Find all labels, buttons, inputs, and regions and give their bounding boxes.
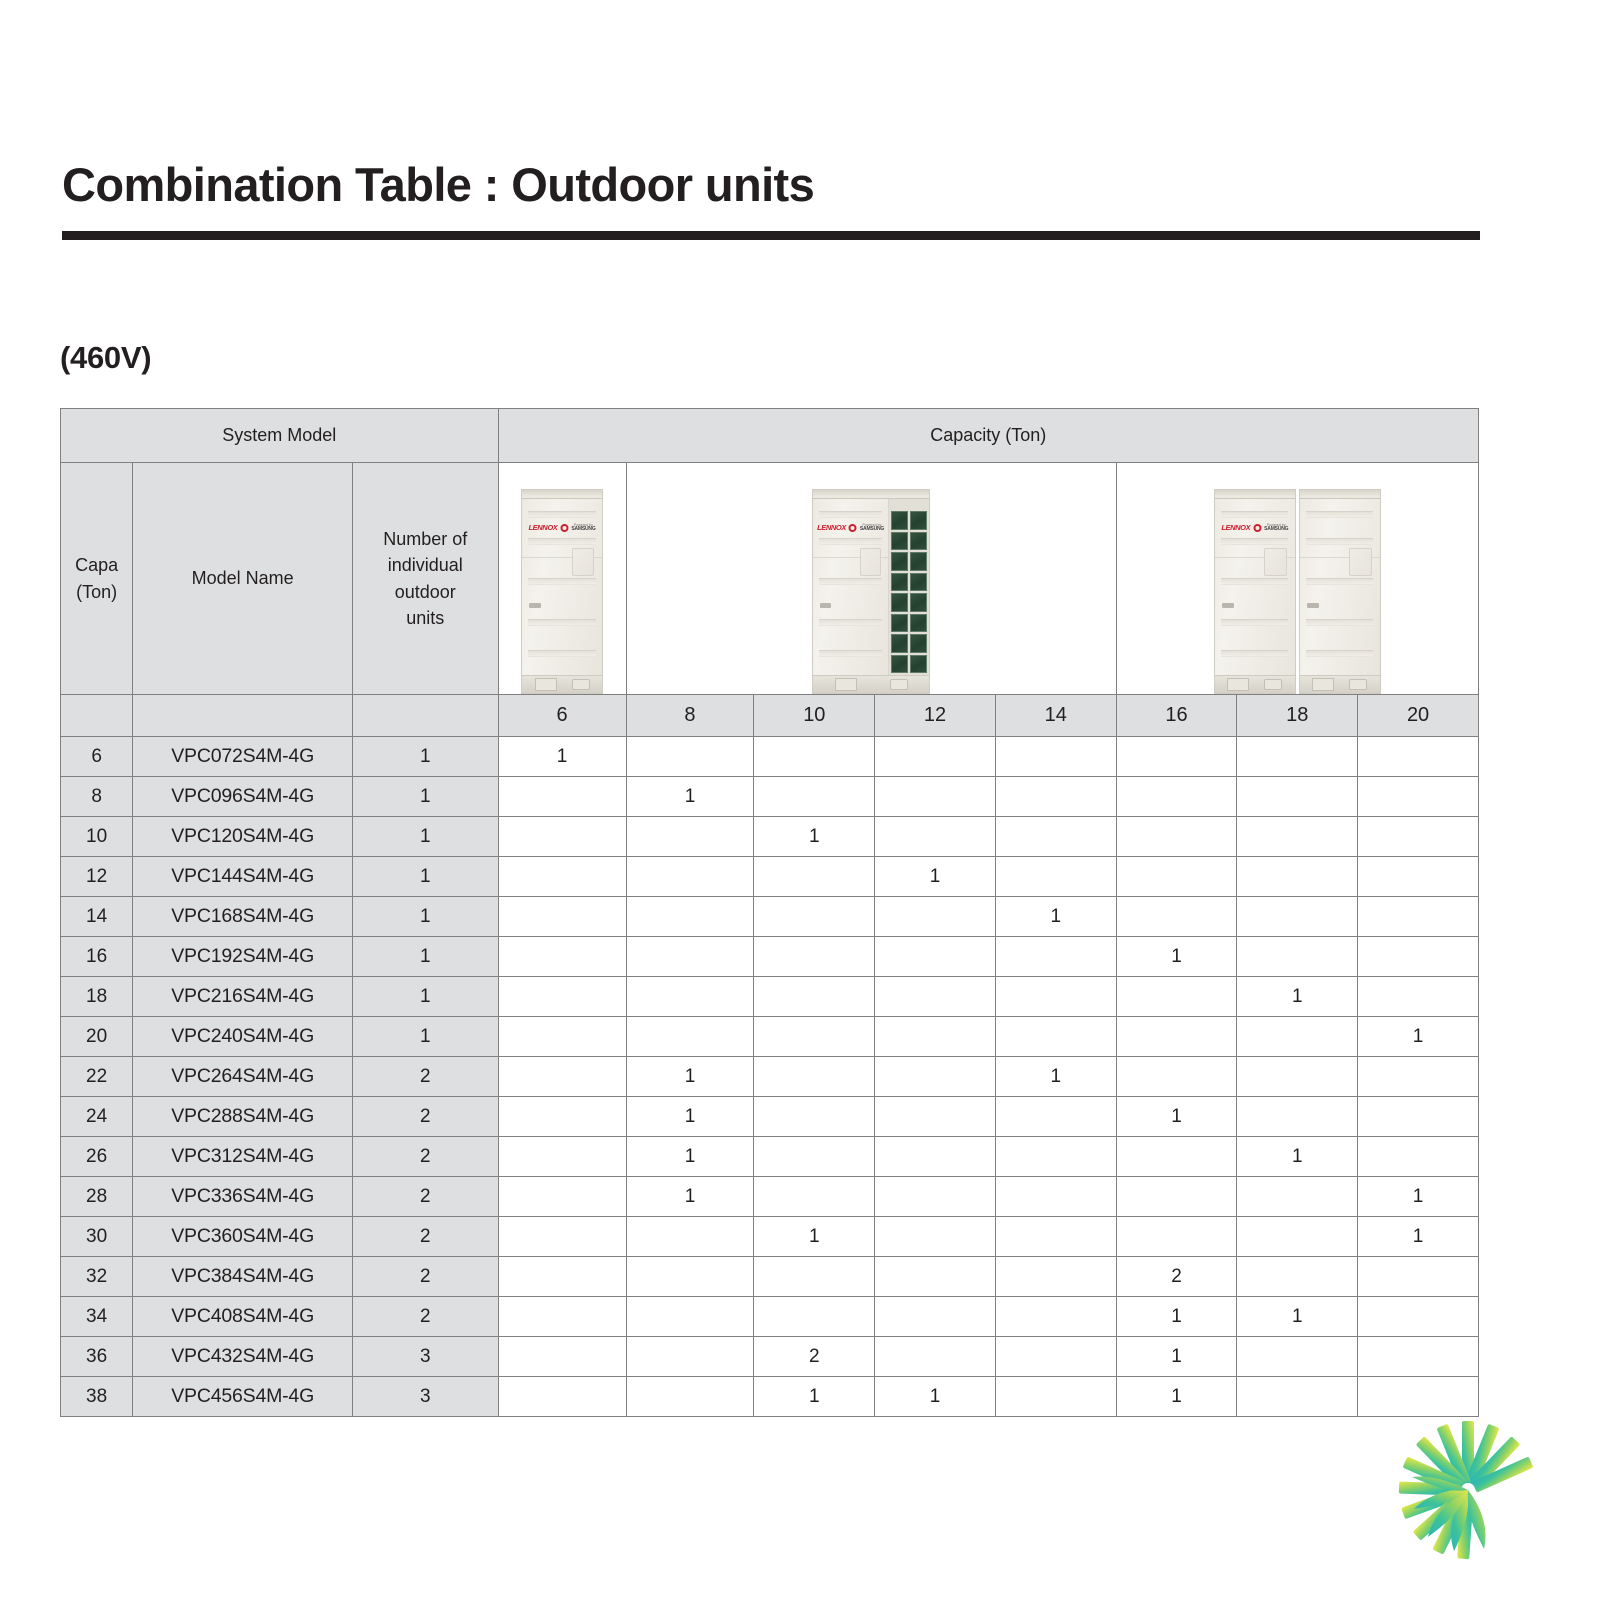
- matrix-cell-20: 1: [1358, 1217, 1479, 1257]
- lennox-circle-icon: [1253, 524, 1261, 532]
- row-capa-ton: 12: [61, 857, 133, 897]
- row-number-of-units: 1: [353, 897, 499, 937]
- unit-illustration-group: LENNOX Powered by SAMSUNG: [627, 463, 1116, 694]
- matrix-cell-10: [754, 1057, 875, 1097]
- row-number-of-units: 2: [353, 1257, 499, 1297]
- unit-body: [1300, 499, 1380, 675]
- row-model-name: VPC384S4M-4G: [133, 1257, 353, 1297]
- powered-by-samsung-mark: Powered by SAMSUNG: [571, 524, 595, 532]
- row-number-of-units: 1: [353, 817, 499, 857]
- header-capa-line2: (Ton): [61, 579, 132, 605]
- matrix-cell-16: 1: [1116, 1297, 1237, 1337]
- matrix-cell-20: [1358, 1297, 1479, 1337]
- matrix-cell-10: 1: [754, 817, 875, 857]
- matrix-cell-20: [1358, 937, 1479, 977]
- table-row: 18VPC216S4M-4G11: [61, 977, 1479, 1017]
- matrix-cell-20: 1: [1358, 1017, 1479, 1057]
- matrix-cell-16: [1116, 897, 1237, 937]
- lennox-circle-icon: [560, 524, 568, 532]
- header-units-line2: individual: [353, 552, 498, 578]
- samsung-label: SAMSUNG: [1264, 527, 1288, 532]
- row-capa-ton: 24: [61, 1097, 133, 1137]
- row-model-name: VPC072S4M-4G: [133, 737, 353, 777]
- row-number-of-units: 3: [353, 1377, 499, 1417]
- table-row: 14VPC168S4M-4G11: [61, 897, 1479, 937]
- row-model-name: VPC432S4M-4G: [133, 1337, 353, 1377]
- matrix-cell-10: [754, 1257, 875, 1297]
- spacer-capa: [61, 695, 133, 737]
- matrix-cell-10: [754, 897, 875, 937]
- matrix-cell-20: [1358, 817, 1479, 857]
- spacer-count: [353, 695, 499, 737]
- row-number-of-units: 2: [353, 1137, 499, 1177]
- matrix-cell-18: 1: [1237, 977, 1358, 1017]
- matrix-cell-12: [875, 737, 996, 777]
- outdoor-unit-graphic: LENNOX Powered by SAMSUNG: [521, 489, 603, 694]
- table-row: 16VPC192S4M-4G11: [61, 937, 1479, 977]
- title-block: Combination Table : Outdoor units: [62, 160, 1480, 240]
- matrix-cell-6: [498, 1297, 626, 1337]
- dual-outdoor-units-image: LENNOX Powered by SAMSUNG: [1116, 463, 1478, 695]
- row-number-of-units: 1: [353, 937, 499, 977]
- matrix-cell-8: [626, 1017, 754, 1057]
- capacity-col-10: 10: [754, 695, 875, 737]
- capacity-col-16: 16: [1116, 695, 1237, 737]
- lennox-wordmark: LENNOX: [1221, 524, 1250, 532]
- matrix-cell-20: [1358, 1097, 1479, 1137]
- outdoor-unit-graphic-second: [1299, 489, 1381, 694]
- header-units-line4: units: [353, 605, 498, 631]
- lennox-logo-icon: LENNOX Powered by SAMSUNG: [529, 524, 596, 532]
- matrix-cell-12: 1: [875, 857, 996, 897]
- matrix-cell-18: [1237, 817, 1358, 857]
- unit-foot-right: [890, 679, 908, 690]
- matrix-cell-18: [1237, 857, 1358, 897]
- header-units-line3: outdoor: [353, 579, 498, 605]
- matrix-cell-20: [1358, 857, 1479, 897]
- matrix-cell-10: 1: [754, 1377, 875, 1417]
- page-title: Combination Table : Outdoor units: [62, 160, 1480, 209]
- matrix-cell-20: [1358, 1137, 1479, 1177]
- matrix-cell-6: [498, 1257, 626, 1297]
- matrix-cell-10: [754, 1097, 875, 1137]
- unit-front-panel: [1300, 499, 1380, 675]
- matrix-cell-12: [875, 817, 996, 857]
- capacity-col-18: 18: [1237, 695, 1358, 737]
- matrix-cell-14: [995, 857, 1116, 897]
- matrix-cell-6: [498, 857, 626, 897]
- matrix-cell-12: [875, 977, 996, 1017]
- matrix-cell-16: [1116, 1217, 1237, 1257]
- matrix-cell-8: [626, 1337, 754, 1377]
- unit-top-cap: [522, 490, 602, 499]
- matrix-cell-14: [995, 1177, 1116, 1217]
- matrix-cell-18: 1: [1237, 1137, 1358, 1177]
- matrix-cell-20: [1358, 1337, 1479, 1377]
- row-model-name: VPC120S4M-4G: [133, 817, 353, 857]
- matrix-cell-10: [754, 857, 875, 897]
- matrix-cell-8: [626, 817, 754, 857]
- row-capa-ton: 38: [61, 1377, 133, 1417]
- row-capa-ton: 22: [61, 1057, 133, 1097]
- row-model-name: VPC408S4M-4G: [133, 1297, 353, 1337]
- row-number-of-units: 2: [353, 1177, 499, 1217]
- row-number-of-units: 2: [353, 1097, 499, 1137]
- unit-base: [522, 675, 602, 693]
- matrix-cell-16: [1116, 1137, 1237, 1177]
- matrix-cell-6: [498, 1217, 626, 1257]
- row-number-of-units: 2: [353, 1297, 499, 1337]
- matrix-cell-20: [1358, 1377, 1479, 1417]
- matrix-cell-16: [1116, 777, 1237, 817]
- row-number-of-units: 1: [353, 977, 499, 1017]
- unit-illustration-group: LENNOX Powered by SAMSUNG: [1117, 463, 1478, 694]
- matrix-cell-10: [754, 737, 875, 777]
- matrix-cell-18: [1237, 737, 1358, 777]
- row-number-of-units: 1: [353, 777, 499, 817]
- table-row: 20VPC240S4M-4G11: [61, 1017, 1479, 1057]
- table-body: 6VPC072S4M-4G118VPC096S4M-4G1110VPC120S4…: [61, 737, 1479, 1417]
- lennox-circle-icon: [849, 524, 857, 532]
- capacity-col-6: 6: [498, 695, 626, 737]
- matrix-cell-14: 1: [995, 1057, 1116, 1097]
- unit-base: [813, 675, 929, 693]
- unit-foot-right: [1349, 679, 1367, 690]
- matrix-cell-12: [875, 1017, 996, 1057]
- matrix-cell-12: [875, 1177, 996, 1217]
- matrix-cell-10: [754, 777, 875, 817]
- matrix-cell-14: [995, 1377, 1116, 1417]
- unit-foot-left: [1227, 678, 1249, 691]
- matrix-cell-14: 1: [995, 897, 1116, 937]
- table-group-header-row: System Model Capacity (Ton): [61, 409, 1479, 463]
- single-outdoor-unit-6ton-image: LENNOX Powered by SAMSUNG: [498, 463, 626, 695]
- row-model-name: VPC312S4M-4G: [133, 1137, 353, 1177]
- samsung-label: SAMSUNG: [571, 527, 595, 532]
- row-number-of-units: 1: [353, 1017, 499, 1057]
- table-row: 38VPC456S4M-4G3111: [61, 1377, 1479, 1417]
- matrix-cell-14: [995, 1137, 1116, 1177]
- unit-front-panel: LENNOX Powered by SAMSUNG: [522, 499, 602, 675]
- matrix-cell-18: [1237, 777, 1358, 817]
- matrix-cell-8: 1: [626, 777, 754, 817]
- table-row: 6VPC072S4M-4G11: [61, 737, 1479, 777]
- matrix-cell-6: [498, 1177, 626, 1217]
- matrix-cell-12: [875, 1257, 996, 1297]
- matrix-cell-18: [1237, 1177, 1358, 1217]
- table-row: 34VPC408S4M-4G211: [61, 1297, 1479, 1337]
- matrix-cell-10: [754, 1177, 875, 1217]
- table-row: 10VPC120S4M-4G11: [61, 817, 1479, 857]
- matrix-cell-12: [875, 1137, 996, 1177]
- matrix-cell-6: [498, 1337, 626, 1377]
- unit-top-cap: [1215, 490, 1295, 499]
- matrix-cell-18: [1237, 897, 1358, 937]
- matrix-cell-16: [1116, 1177, 1237, 1217]
- matrix-cell-18: [1237, 937, 1358, 977]
- matrix-cell-12: [875, 1217, 996, 1257]
- matrix-cell-8: [626, 937, 754, 977]
- unit-front-panel: LENNOX Powered by SAMSUNG: [1215, 499, 1295, 675]
- table-row: 32VPC384S4M-4G22: [61, 1257, 1479, 1297]
- row-model-name: VPC240S4M-4G: [133, 1017, 353, 1057]
- matrix-cell-18: [1237, 1057, 1358, 1097]
- matrix-cell-18: 1: [1237, 1297, 1358, 1337]
- matrix-cell-18: [1237, 1337, 1358, 1377]
- matrix-cell-8: [626, 857, 754, 897]
- header-capa-line1: Capa: [61, 552, 132, 578]
- capacity-col-8: 8: [626, 695, 754, 737]
- matrix-cell-8: 1: [626, 1057, 754, 1097]
- matrix-cell-6: [498, 977, 626, 1017]
- matrix-cell-8: [626, 1377, 754, 1417]
- unit-base: [1300, 675, 1380, 693]
- header-model-name: Model Name: [133, 463, 353, 695]
- unit-foot-right: [1264, 679, 1282, 690]
- matrix-cell-6: [498, 817, 626, 857]
- matrix-cell-16: [1116, 1017, 1237, 1057]
- table-row: 8VPC096S4M-4G11: [61, 777, 1479, 817]
- unit-foot-left: [1312, 678, 1334, 691]
- title-underline-rule: [62, 231, 1480, 240]
- lennox-logo-icon: LENNOX Powered by SAMSUNG: [1221, 524, 1288, 532]
- table-row: 12VPC144S4M-4G11: [61, 857, 1479, 897]
- matrix-cell-10: 1: [754, 1217, 875, 1257]
- samsung-label: SAMSUNG: [860, 527, 884, 532]
- row-capa-ton: 6: [61, 737, 133, 777]
- matrix-cell-10: [754, 977, 875, 1017]
- row-capa-ton: 14: [61, 897, 133, 937]
- row-number-of-units: 1: [353, 737, 499, 777]
- unit-foot-left: [535, 678, 557, 691]
- matrix-cell-16: 1: [1116, 937, 1237, 977]
- matrix-cell-10: [754, 937, 875, 977]
- matrix-cell-20: [1358, 897, 1479, 937]
- outdoor-unit-graphic: LENNOX Powered by SAMSUNG: [1214, 489, 1296, 694]
- matrix-cell-12: [875, 777, 996, 817]
- row-model-name: VPC168S4M-4G: [133, 897, 353, 937]
- table-row: 22VPC264S4M-4G211: [61, 1057, 1479, 1097]
- matrix-cell-8: [626, 977, 754, 1017]
- matrix-cell-14: [995, 737, 1116, 777]
- unit-front-panel: LENNOX Powered by SAMSUNG: [813, 499, 889, 675]
- matrix-cell-20: [1358, 737, 1479, 777]
- matrix-cell-6: [498, 1017, 626, 1057]
- matrix-cell-20: [1358, 977, 1479, 1017]
- spacer-model: [133, 695, 353, 737]
- matrix-cell-12: [875, 937, 996, 977]
- unit-top-cap: [813, 490, 929, 499]
- combination-table-wrapper: System Model Capacity (Ton) Capa (Ton) M…: [60, 408, 1479, 1417]
- table-subheader-image-row: Capa (Ton) Model Name Number of individu…: [61, 463, 1479, 695]
- matrix-cell-8: 1: [626, 1177, 754, 1217]
- combination-table: System Model Capacity (Ton) Capa (Ton) M…: [60, 408, 1479, 1417]
- matrix-cell-14: [995, 937, 1116, 977]
- row-model-name: VPC360S4M-4G: [133, 1217, 353, 1257]
- matrix-cell-10: [754, 1297, 875, 1337]
- unit-body: LENNOX Powered by SAMSUNG: [1215, 499, 1295, 675]
- row-capa-ton: 32: [61, 1257, 133, 1297]
- unit-body: LENNOX Powered by SAMSUNG: [813, 499, 929, 675]
- matrix-cell-8: 1: [626, 1137, 754, 1177]
- matrix-cell-14: [995, 1017, 1116, 1057]
- matrix-cell-6: [498, 937, 626, 977]
- row-model-name: VPC216S4M-4G: [133, 977, 353, 1017]
- matrix-cell-6: [498, 1057, 626, 1097]
- matrix-cell-16: 1: [1116, 1097, 1237, 1137]
- unit-body: LENNOX Powered by SAMSUNG: [522, 499, 602, 675]
- unit-illustration-group: LENNOX Powered by SAMSUNG: [499, 463, 626, 694]
- matrix-cell-8: [626, 737, 754, 777]
- matrix-cell-18: [1237, 1257, 1358, 1297]
- powered-by-samsung-mark: Powered by SAMSUNG: [860, 524, 884, 532]
- matrix-cell-12: [875, 1297, 996, 1337]
- matrix-cell-8: [626, 1297, 754, 1337]
- row-model-name: VPC264S4M-4G: [133, 1057, 353, 1097]
- matrix-cell-6: [498, 1137, 626, 1177]
- unit-top-cap: [1300, 490, 1380, 499]
- matrix-cell-12: 1: [875, 1377, 996, 1417]
- matrix-cell-10: [754, 1017, 875, 1057]
- matrix-cell-14: [995, 817, 1116, 857]
- matrix-cell-16: 1: [1116, 1377, 1237, 1417]
- matrix-cell-14: [995, 777, 1116, 817]
- document-page: Combination Table : Outdoor units (460V): [0, 0, 1600, 1600]
- matrix-cell-6: [498, 1377, 626, 1417]
- row-capa-ton: 34: [61, 1297, 133, 1337]
- matrix-cell-16: [1116, 737, 1237, 777]
- matrix-cell-10: [754, 1137, 875, 1177]
- outdoor-unit-graphic: LENNOX Powered by SAMSUNG: [812, 489, 930, 694]
- row-model-name: VPC144S4M-4G: [133, 857, 353, 897]
- matrix-cell-12: [875, 897, 996, 937]
- unit-foot-left: [835, 678, 857, 691]
- table-row: 28VPC336S4M-4G211: [61, 1177, 1479, 1217]
- matrix-cell-14: [995, 1097, 1116, 1137]
- row-capa-ton: 16: [61, 937, 133, 977]
- row-capa-ton: 10: [61, 817, 133, 857]
- voltage-label: (460V): [60, 340, 151, 376]
- matrix-cell-18: [1237, 1097, 1358, 1137]
- matrix-cell-18: [1237, 1217, 1358, 1257]
- matrix-cell-20: [1358, 1257, 1479, 1297]
- matrix-cell-12: [875, 1097, 996, 1137]
- matrix-cell-20: [1358, 1057, 1479, 1097]
- row-model-name: VPC336S4M-4G: [133, 1177, 353, 1217]
- lennox-wordmark: LENNOX: [529, 524, 558, 532]
- row-model-name: VPC192S4M-4G: [133, 937, 353, 977]
- matrix-cell-12: [875, 1337, 996, 1377]
- matrix-cell-18: [1237, 1377, 1358, 1417]
- row-number-of-units: 2: [353, 1217, 499, 1257]
- condenser-coil-grille: [889, 499, 929, 675]
- row-number-of-units: 1: [353, 857, 499, 897]
- matrix-cell-14: [995, 977, 1116, 1017]
- matrix-cell-20: 1: [1358, 1177, 1479, 1217]
- matrix-cell-6: [498, 897, 626, 937]
- row-capa-ton: 8: [61, 777, 133, 817]
- matrix-cell-16: [1116, 977, 1237, 1017]
- row-capa-ton: 26: [61, 1137, 133, 1177]
- radial-burst-logo: [1392, 1415, 1542, 1565]
- matrix-cell-6: [498, 777, 626, 817]
- matrix-cell-6: 1: [498, 737, 626, 777]
- header-system-model: System Model: [61, 409, 499, 463]
- row-number-of-units: 3: [353, 1337, 499, 1377]
- row-capa-ton: 18: [61, 977, 133, 1017]
- matrix-cell-16: [1116, 857, 1237, 897]
- lennox-wordmark: LENNOX: [817, 524, 846, 532]
- row-number-of-units: 2: [353, 1057, 499, 1097]
- row-model-name: VPC288S4M-4G: [133, 1097, 353, 1137]
- header-units-line1: Number of: [353, 526, 498, 552]
- matrix-cell-16: [1116, 1057, 1237, 1097]
- matrix-cell-16: 1: [1116, 1337, 1237, 1377]
- capacity-column-header-row: 6 8 10 12 14 16 18 20: [61, 695, 1479, 737]
- row-model-name: VPC096S4M-4G: [133, 777, 353, 817]
- matrix-cell-8: [626, 1257, 754, 1297]
- row-capa-ton: 30: [61, 1217, 133, 1257]
- matrix-cell-14: [995, 1337, 1116, 1377]
- powered-by-samsung-mark: Powered by SAMSUNG: [1264, 524, 1288, 532]
- matrix-cell-6: [498, 1097, 626, 1137]
- capacity-col-12: 12: [875, 695, 996, 737]
- matrix-cell-14: [995, 1217, 1116, 1257]
- table-row: 36VPC432S4M-4G321: [61, 1337, 1479, 1377]
- header-capacity-ton: Capacity (Ton): [498, 409, 1478, 463]
- row-model-name: VPC456S4M-4G: [133, 1377, 353, 1417]
- header-number-of-units: Number of individual outdoor units: [353, 463, 499, 695]
- matrix-cell-14: [995, 1297, 1116, 1337]
- matrix-cell-10: 2: [754, 1337, 875, 1377]
- capacity-col-20: 20: [1358, 695, 1479, 737]
- matrix-cell-18: [1237, 1017, 1358, 1057]
- lennox-logo-icon: LENNOX Powered by SAMSUNG: [817, 524, 884, 532]
- matrix-cell-16: [1116, 817, 1237, 857]
- matrix-cell-8: [626, 897, 754, 937]
- matrix-cell-14: [995, 1257, 1116, 1297]
- matrix-cell-20: [1358, 777, 1479, 817]
- matrix-cell-12: [875, 1057, 996, 1097]
- single-outdoor-unit-large-image: LENNOX Powered by SAMSUNG: [626, 463, 1116, 695]
- row-capa-ton: 36: [61, 1337, 133, 1377]
- capacity-col-14: 14: [995, 695, 1116, 737]
- table-row: 30VPC360S4M-4G211: [61, 1217, 1479, 1257]
- unit-base: [1215, 675, 1295, 693]
- matrix-cell-16: 2: [1116, 1257, 1237, 1297]
- unit-foot-right: [572, 679, 590, 690]
- table-row: 24VPC288S4M-4G211: [61, 1097, 1479, 1137]
- matrix-cell-8: 1: [626, 1097, 754, 1137]
- matrix-cell-8: [626, 1217, 754, 1257]
- header-capa-ton: Capa (Ton): [61, 463, 133, 695]
- row-capa-ton: 28: [61, 1177, 133, 1217]
- row-capa-ton: 20: [61, 1017, 133, 1057]
- table-row: 26VPC312S4M-4G211: [61, 1137, 1479, 1177]
